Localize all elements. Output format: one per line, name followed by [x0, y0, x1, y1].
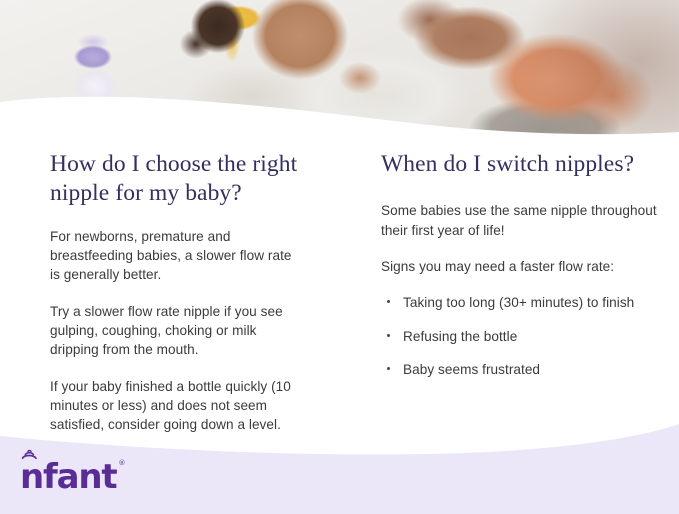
list-item-label: Refusing the bottle [403, 329, 517, 344]
list-item: Taking too long (30+ minutes) to finish [381, 293, 661, 312]
column-choose-nipple: How do I choose the right nipple for my … [0, 140, 345, 434]
footer-band: nfant ® [0, 418, 679, 514]
paragraph-choose-2: Try a slower flow rate nipple if you see… [50, 302, 301, 360]
paragraph-switch-1: Some babies use the same nipple througho… [381, 201, 661, 240]
logo-wrap: nfant ® [20, 460, 116, 494]
wifi-arc-icon [21, 449, 38, 460]
brand-logo: nfant ® [20, 460, 116, 494]
bullet-dot-icon [387, 300, 390, 303]
page-title-switch-nipples: When do I switch nipples? [381, 150, 661, 179]
infographic-page: How do I choose the right nipple for my … [0, 0, 679, 514]
logo-text: nfant [20, 460, 116, 494]
column-switch-nipples: When do I switch nipples? Some babies us… [345, 140, 679, 434]
hero-bottom-wave [0, 92, 679, 140]
signs-list: Taking too long (30+ minutes) to finish … [381, 293, 661, 379]
paragraph-switch-2: Signs you may need a faster flow rate: [381, 257, 661, 276]
list-item: Baby seems frustrated [381, 360, 661, 379]
hero-image [0, 0, 679, 140]
paragraph-choose-1: For newborns, premature and breastfeedin… [50, 227, 301, 285]
bullet-dot-icon [387, 367, 390, 370]
content-columns: How do I choose the right nipple for my … [0, 140, 679, 434]
list-item: Refusing the bottle [381, 327, 661, 346]
bullet-dot-icon [387, 334, 390, 337]
page-title-choose-nipple: How do I choose the right nipple for my … [50, 150, 301, 209]
list-item-label: Taking too long (30+ minutes) to finish [403, 295, 634, 310]
registered-trademark-icon: ® [118, 460, 125, 467]
list-item-label: Baby seems frustrated [403, 362, 540, 377]
